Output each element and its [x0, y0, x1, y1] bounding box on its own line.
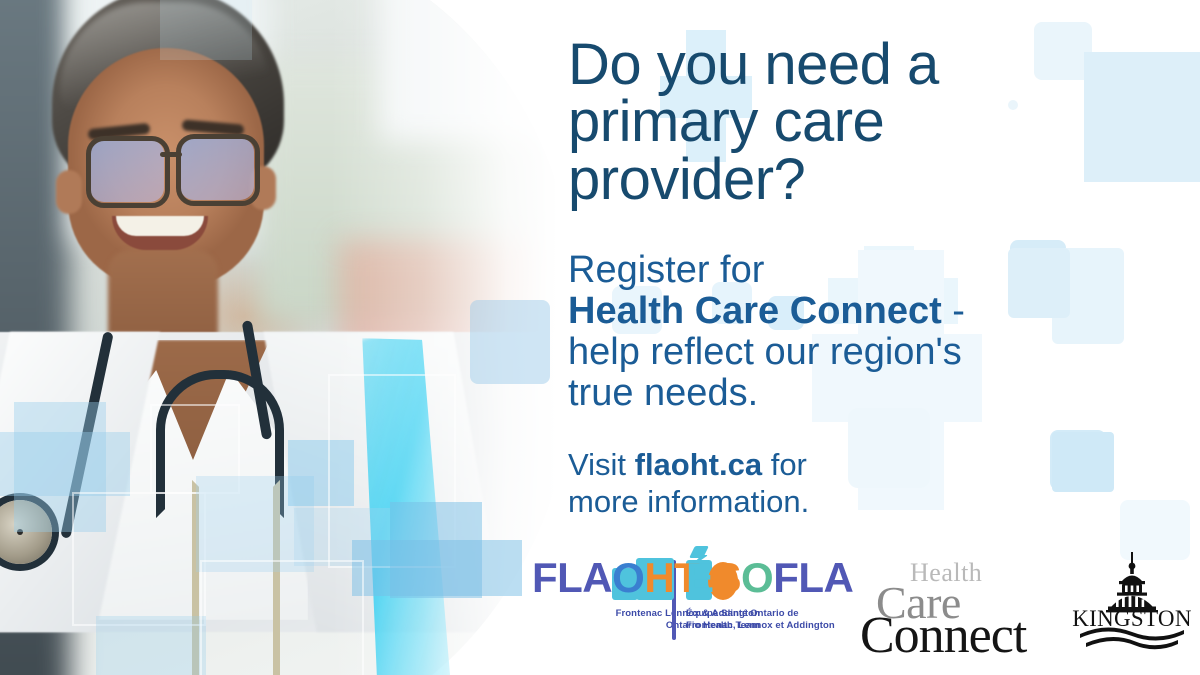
logo-kingston: KINGSTON [1072, 550, 1192, 656]
page-title: Do you need a primary care provider? [568, 36, 1088, 208]
flaoht-letter-o: O [612, 554, 644, 601]
body-line-3: help reflect our region's [568, 331, 962, 373]
esofla-letter-s: S [714, 554, 742, 601]
esofla-letters-fla: FLA [773, 554, 853, 601]
hero-photo [0, 0, 560, 675]
esofla-letter-e: É [686, 554, 714, 601]
cta-line-2: more information. [568, 484, 809, 519]
flaoht-letter-h: H [644, 554, 674, 601]
esofla-tagline-line-2: Frontenac, Lennox et Addington [686, 620, 835, 631]
cta-suffix: for [762, 447, 807, 482]
body-emphasis: Health Care Connect [568, 290, 942, 332]
poster-canvas: Do you need a primary care provider? Reg… [0, 0, 1200, 675]
kingston-wordmark: KINGSTON [1072, 606, 1192, 632]
glasses-icon [86, 136, 170, 208]
glasses-icon [176, 134, 260, 206]
hcc-word-connect: Connect [860, 606, 1026, 665]
logo-row: FLAOHT Frontenac Lennox & Addington Onta… [520, 548, 1200, 658]
logo-esofla: ÉSOFLA Équipe Santé Ontario de Frontenac… [686, 556, 866, 652]
logo-health-care-connect: Health Care Connect [860, 554, 1060, 654]
body-dash: - [942, 290, 965, 332]
esofla-letter-o: O [741, 554, 773, 601]
body-line-1: Register for [568, 249, 764, 291]
cta-prefix: Visit [568, 447, 635, 482]
flaoht-letters-fla: FLA [532, 554, 612, 601]
body-line-4: true needs. [568, 372, 758, 414]
cta-copy: Visit flaoht.ca for more information. [568, 447, 998, 520]
esofla-tagline-line-1: Équipe Santé Ontario de [686, 608, 799, 619]
kingston-dome-icon [1072, 550, 1192, 656]
body-copy: Register for Health Care Connect - help … [568, 250, 1038, 414]
cta-url[interactable]: flaoht.ca [635, 447, 762, 482]
